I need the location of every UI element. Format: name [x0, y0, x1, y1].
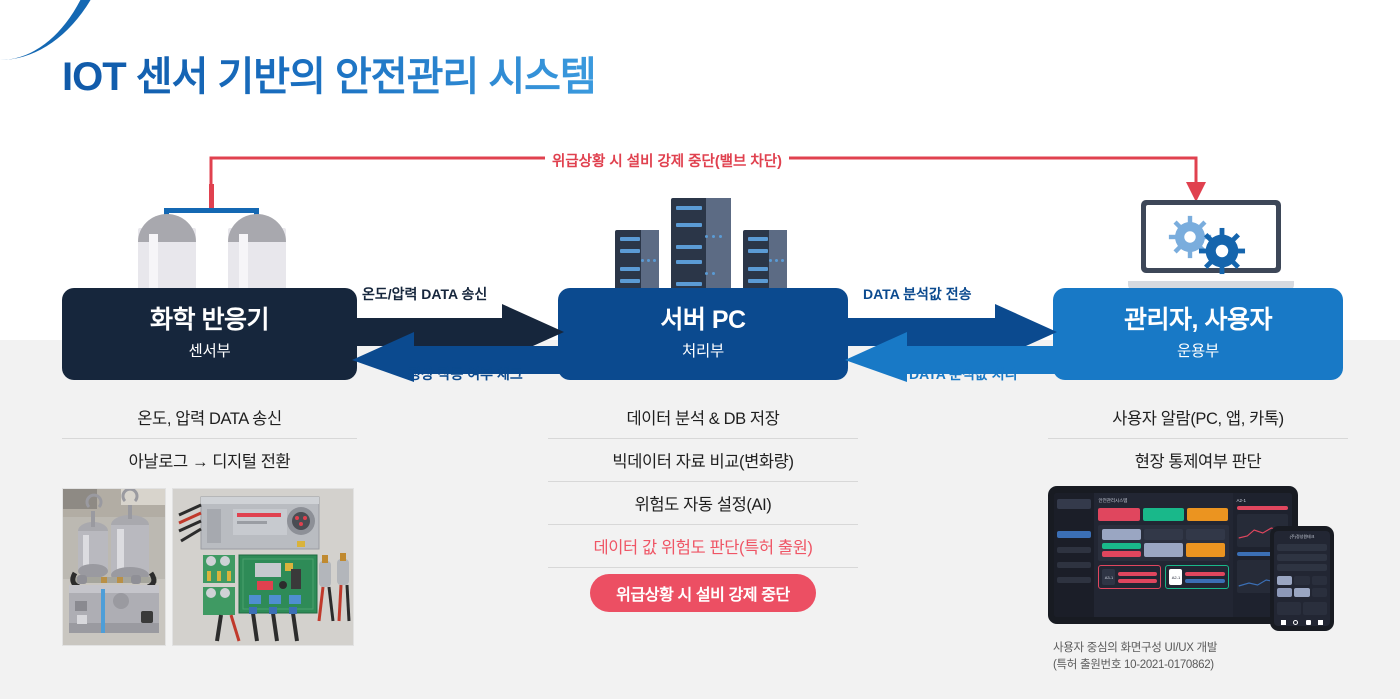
list-item: 데이터 분석 & DB 저장	[548, 396, 858, 439]
stage-box-sensor[interactable]: 화학 반응기 센서부	[62, 288, 357, 380]
tablet-chart-title: A2-1	[1237, 498, 1289, 503]
arrow-label-temp-pressure: 온도/압력 DATA 송신	[362, 284, 487, 304]
mockup-caption-line2: (특허 출원번호 10-2021-0170862)	[1053, 657, 1217, 674]
phone-device: (주)정성원테크	[1270, 526, 1334, 631]
gear-dark-icon	[1198, 227, 1246, 275]
tablet-sidebar	[1054, 493, 1094, 617]
stage-subtitle-server: 처리부	[682, 339, 724, 361]
list-item: 현장 통제여부 판단	[1048, 439, 1348, 481]
list-item: 사용자 알람(PC, 앱, 카톡)	[1048, 396, 1348, 439]
stage-title-server: 서버 PC	[660, 307, 745, 335]
list-item: 위험도 자동 설정(AI)	[548, 482, 858, 525]
emergency-feedback-label: 위급상황 시 설비 강제 중단(밸브 차단)	[545, 150, 789, 171]
stage-box-operator[interactable]: 관리자, 사용자 운용부	[1053, 288, 1343, 380]
stage-items-server: 데이터 분석 & DB 저장 빅데이터 자료 비교(변화량) 위험도 자동 설정…	[548, 396, 858, 612]
photo-control-circuit	[172, 488, 354, 646]
server-rack-icon	[615, 198, 791, 292]
tablet-device: 안전관리시스템	[1048, 486, 1298, 624]
stage-title-sensor: 화학 반응기	[150, 307, 269, 335]
phone-brand: (주)정성원테크	[1277, 534, 1327, 540]
arrow-label-analysis-send: DATA 분석값 전송	[863, 284, 971, 304]
stage-box-server[interactable]: 서버 PC 처리부	[558, 288, 848, 380]
tablet-main-panel: 안전관리시스템	[1094, 493, 1232, 617]
arrow-group-server-operator: DATA 분석값 전송 DATA 분석값 처리	[845, 286, 1057, 382]
arrow-label-analysis-process: DATA 분석값 처리	[909, 364, 1017, 384]
tablet-tag-a3: A3-1	[1102, 569, 1115, 585]
slide-canvas: IOT 센서 기반의 안전관리 시스템 위급상황 시 설비 강제 중단(밸브 차…	[0, 0, 1400, 699]
mockup-caption-line1: 사용자 중심의 화면구성 UI/UX 개발	[1053, 640, 1217, 657]
tablet-tag-a2: A2-1	[1169, 569, 1182, 585]
chemical-tanks-icon	[118, 196, 308, 292]
tablet-app-title: 안전관리시스템	[1098, 498, 1228, 504]
laptop-gears-icon	[1128, 200, 1294, 290]
stage-items-operator: 사용자 알람(PC, 앱, 카톡) 현장 통제여부 판단	[1048, 396, 1348, 481]
stage-items-sensor: 온도, 압력 DATA 송신 아날로그 → 디지털 전환	[62, 396, 357, 481]
emergency-stop-badge[interactable]: 위급상황 시 설비 강제 중단	[590, 574, 816, 612]
list-item-highlight: 데이터 값 위험도 판단(특허 출원)	[548, 525, 858, 568]
list-item: 빅데이터 자료 비교(변화량)	[548, 439, 858, 482]
list-item: 온도, 압력 DATA 송신	[62, 396, 357, 439]
photo-chemical-reactor	[62, 488, 166, 646]
arrow-label-status-check: 정상 작동 여부 체크	[408, 364, 523, 384]
list-item: 아날로그 → 디지털 전환	[62, 439, 357, 481]
stage-subtitle-sensor: 센서부	[189, 339, 231, 361]
ui-device-mockup: 안전관리시스템	[1048, 486, 1348, 631]
stage-subtitle-operator: 운용부	[1177, 339, 1219, 361]
arrow-group-sensor-server: 온도/압력 DATA 송신 정상 작동 여부 체크	[352, 286, 564, 382]
mockup-caption: 사용자 중심의 화면구성 UI/UX 개발 (특허 출원번호 10-2021-0…	[1053, 640, 1217, 673]
stage-title-operator: 관리자, 사용자	[1124, 307, 1272, 335]
page-title: IOT 센서 기반의 안전관리 시스템	[62, 44, 596, 102]
